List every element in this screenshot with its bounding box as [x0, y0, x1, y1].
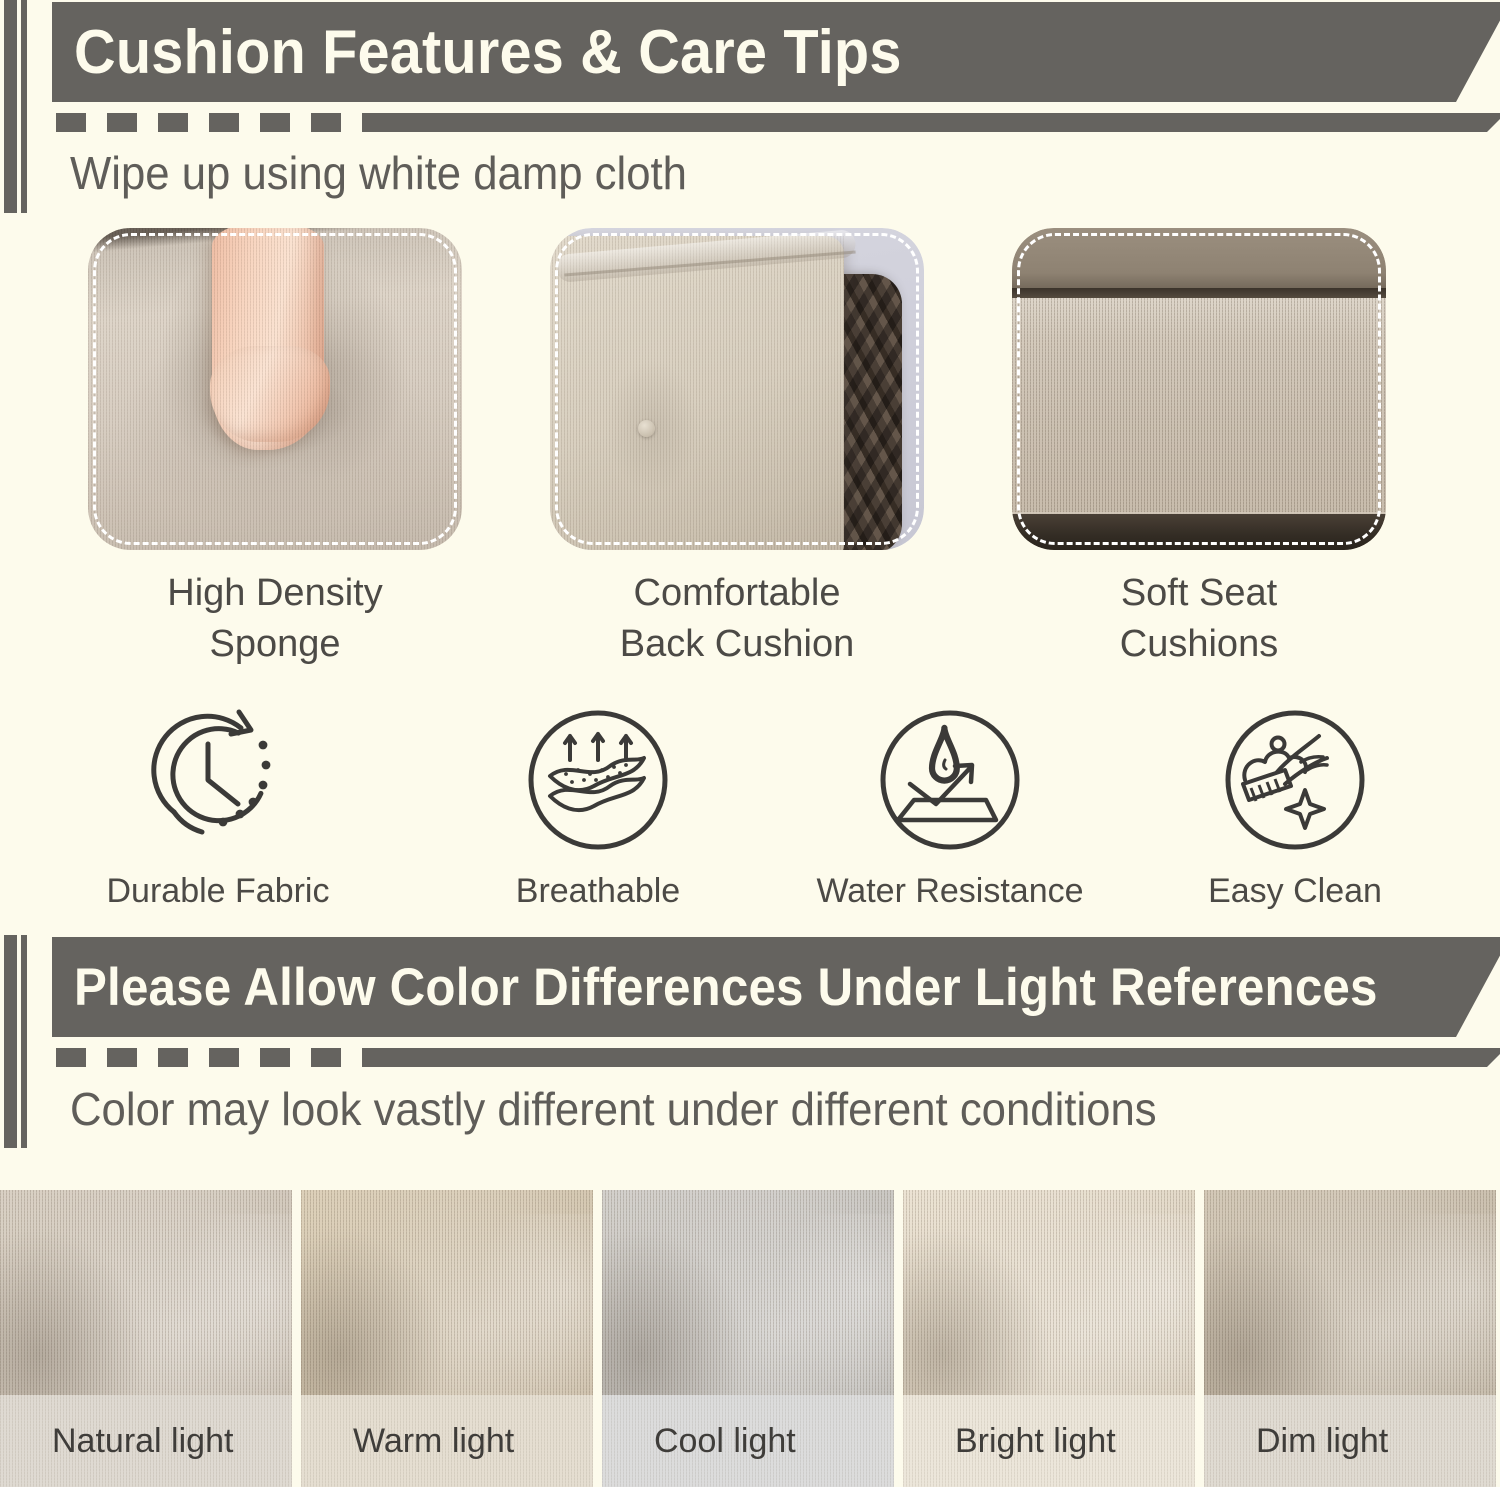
photo-card-high-density-sponge: [88, 228, 462, 550]
section-two-banner: Please Allow Color Differences Under Lig…: [52, 937, 1500, 1037]
section-one-title: Cushion Features & Care Tips: [74, 17, 902, 88]
tufted-button: [638, 420, 655, 437]
accent-bar-wide: [4, 0, 17, 213]
photo-card-back-cushion: [550, 228, 924, 550]
swatch-label: Natural light: [0, 1422, 233, 1461]
section-two-dashed-rule: [56, 1048, 1500, 1067]
section-two-title: Please Allow Color Differences Under Lig…: [74, 957, 1378, 1018]
seat-cushion-fabric-photo: [1012, 228, 1386, 550]
infographic-page: Cushion Features & Care Tips Wipe up usi…: [0, 0, 1500, 1487]
swatch-label: Bright light: [903, 1422, 1116, 1461]
swatch-label-band: Warm light: [301, 1395, 593, 1487]
rule-dash: [107, 113, 137, 132]
rule-dash: [311, 1048, 341, 1067]
rule-dash: [260, 1048, 290, 1067]
brush-sparkle-icon: [1215, 700, 1375, 860]
swatch-label: Warm light: [301, 1422, 514, 1461]
photo-caption-soft-seat-cushions: Soft Seat Cushions: [989, 568, 1409, 670]
swatch-label-band: Dim light: [1204, 1395, 1496, 1487]
feature-label: Easy Clean: [1135, 872, 1455, 911]
photo-card-row: High Density Sponge Comfortable Back Cus…: [0, 228, 1500, 558]
rule-dash: [158, 113, 188, 132]
feature-icon-row: Durable Fabric Breathabl: [0, 700, 1500, 930]
swatch-dim-light: Dim light: [1204, 1190, 1496, 1487]
swatch-label: Dim light: [1204, 1422, 1388, 1461]
clock-arrow-icon: [138, 700, 298, 860]
section-one-subtitle: Wipe up using white damp cloth: [70, 146, 687, 200]
back-cushion-wicker-photo: [550, 228, 924, 550]
accent-bar-wide: [4, 935, 17, 1148]
hand-pressing-cushion-photo: [88, 228, 462, 550]
rule-dash: [209, 1048, 239, 1067]
rule-dash: [209, 113, 239, 132]
rule-solid-bar: [362, 113, 1500, 132]
color-swatch-row: Natural light Warm light Cool light: [0, 1190, 1500, 1487]
feature-label: Durable Fabric: [58, 872, 378, 911]
feature-easy-clean: Easy Clean: [1135, 700, 1455, 911]
rule-dash: [56, 113, 86, 132]
accent-bar-thin: [21, 0, 27, 213]
swatch-label-band: Natural light: [0, 1395, 292, 1487]
rule-dash: [311, 113, 341, 132]
swatch-label-band: Bright light: [903, 1395, 1195, 1487]
rule-solid-bar: [362, 1048, 1500, 1067]
swatch-label-band: Cool light: [602, 1395, 894, 1487]
section-one-banner: Cushion Features & Care Tips: [52, 2, 1500, 102]
swatch-natural-light: Natural light: [0, 1190, 292, 1487]
rule-dash: [107, 1048, 137, 1067]
section-two-subtitle: Color may look vastly different under di…: [70, 1082, 1157, 1136]
photo-caption-back-cushion: Comfortable Back Cushion: [527, 568, 947, 670]
rule-dash: [158, 1048, 188, 1067]
rule-dash: [260, 113, 290, 132]
swatch-label: Cool light: [602, 1422, 796, 1461]
swatch-cool-light: Cool light: [602, 1190, 894, 1487]
accent-bar-thin: [21, 935, 27, 1148]
feature-water-resistance: Water Resistance: [790, 700, 1110, 911]
swatch-warm-light: Warm light: [301, 1190, 593, 1487]
photo-caption-high-density-sponge: High Density Sponge: [65, 568, 485, 670]
feature-label: Water Resistance: [790, 872, 1110, 911]
section-one-dashed-rule: [56, 113, 1500, 132]
water-droplet-repel-icon: [870, 700, 1030, 860]
swatch-bright-light: Bright light: [903, 1190, 1195, 1487]
feature-durable-fabric: Durable Fabric: [58, 700, 378, 911]
rule-dash: [56, 1048, 86, 1067]
breathable-layers-icon: [518, 700, 678, 860]
feature-label: Breathable: [438, 872, 758, 911]
photo-card-soft-seat-cushions: [1012, 228, 1386, 550]
feature-breathable: Breathable: [438, 700, 758, 911]
